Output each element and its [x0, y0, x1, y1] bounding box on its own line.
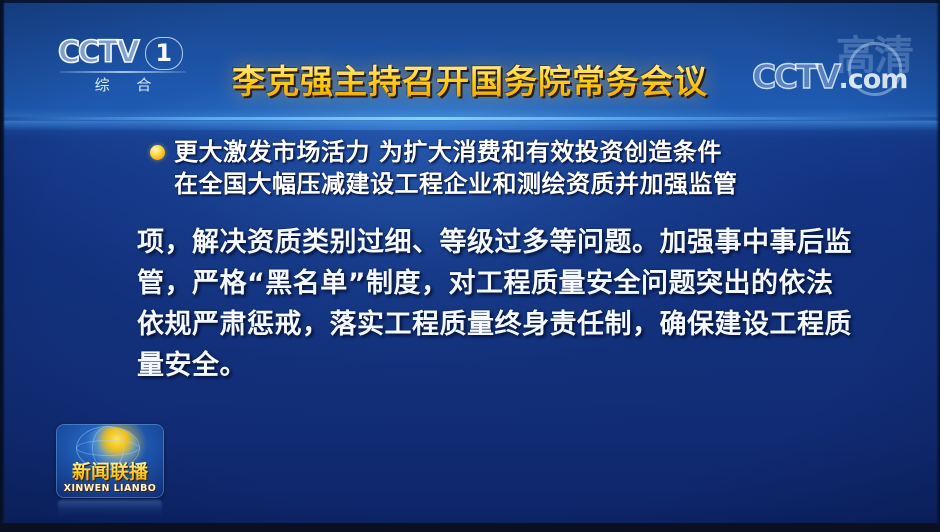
bullet-dot-icon — [150, 145, 165, 160]
body-paragraph: 项，解决资质类别过细、等级过多等问题。加强事中事后监 管，严格“黑名单”制度，对… — [137, 222, 827, 386]
subtitle-line-2: 在全国大幅压减建设工程企业和测绘资质并加强监管 — [174, 169, 738, 200]
subtitle-row-1: 更大激发市场活力 为扩大消费和有效投资创造条件 — [150, 137, 850, 169]
body-line-3: 依规严肃惩戒，落实工程质量终身责任制，确保建设工程质 — [137, 304, 827, 345]
header-divider-line — [0, 117, 940, 120]
subtitle-row-2: 在全国大幅压减建设工程企业和测绘资质并加强监管 — [150, 169, 850, 201]
subtitle-block: 更大激发市场活力 为扩大消费和有效投资创造条件 在全国大幅压减建设工程企业和测绘… — [150, 137, 850, 201]
body-line-4: 量安全。 — [137, 345, 827, 386]
logo-reflection — [58, 500, 162, 518]
program-name-pinyin: XINWEN LIANBO — [56, 483, 164, 494]
xinwen-lianbo-logo: 新闻联播 XINWEN LIANBO — [56, 424, 164, 498]
page-title: 李克强主持召开国务院常务会议 — [0, 62, 940, 102]
left-edge-shadow — [0, 0, 5, 532]
body-line-2: 管，严格“黑名单”制度，对工程质量安全问题突出的依法 — [137, 263, 827, 304]
globe-ring-equator — [76, 440, 140, 456]
subtitle-line-1: 更大激发市场活力 为扩大消费和有效投资创造条件 — [174, 137, 722, 168]
bottom-edge-bar — [0, 523, 940, 532]
body-line-1: 项，解决资质类别过细、等级过多等问题。加强事中事后监 — [137, 222, 827, 263]
top-edge-bar — [0, 0, 940, 3]
header-divider-glow — [0, 121, 940, 131]
right-edge-shadow — [936, 0, 940, 532]
broadcast-screen: CCTV 1 综 合 高清 CCTV.com 李克强主持召开国务院常务会议 更大… — [0, 0, 940, 532]
program-name-cn: 新闻联播 — [56, 462, 164, 483]
